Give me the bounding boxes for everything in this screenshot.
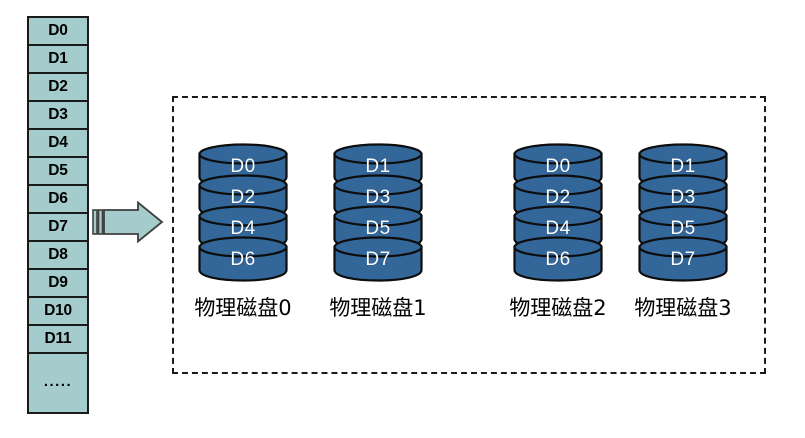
logical-data-stream: D0D1D2D3D4D5D6D7D8D9D10D11..... [27,16,89,414]
disk-block-segment: D7 [637,237,729,277]
distribution-arrow [92,201,164,243]
disk-cylinder-stack: D0D2D4D6 [197,144,289,276]
physical-disk-0: D0D2D4D6物理磁盘0 [197,144,289,276]
physical-disk-caption-2: 物理磁盘2 [490,292,626,322]
disk-block-label: D6 [512,237,604,277]
stream-cell-d9: D9 [29,270,87,298]
physical-disk-caption-3: 物理磁盘3 [615,292,751,322]
disk-block-segment: D6 [197,237,289,277]
stream-cell-d11: D11 [29,326,87,354]
stream-cell-d2: D2 [29,74,87,102]
disk-cylinder-stack: D1D3D5D7 [637,144,729,276]
arrow-body [104,203,162,242]
stream-cell-d6: D6 [29,186,87,214]
disk-block-label: D7 [332,237,424,277]
diagram-canvas: D0D1D2D3D4D5D6D7D8D9D10D11..... D0D2D4D6… [0,0,805,438]
physical-disk-caption-0: 物理磁盘0 [175,292,311,322]
disk-block-segment: D6 [512,237,604,277]
stream-cell-ellipsis: ..... [29,354,87,412]
stream-cell-d10: D10 [29,298,87,326]
stream-cell-d5: D5 [29,158,87,186]
stream-cell-d0: D0 [29,18,87,46]
stream-cell-d4: D4 [29,130,87,158]
stream-cell-d8: D8 [29,242,87,270]
physical-disk-2: D0D2D4D6物理磁盘2 [512,144,604,276]
disk-cylinder-stack: D1D3D5D7 [332,144,424,276]
stream-cell-d1: D1 [29,46,87,74]
physical-disk-3: D1D3D5D7物理磁盘3 [637,144,729,276]
stream-cell-d3: D3 [29,102,87,130]
disk-block-label: D6 [197,237,289,277]
disk-block-label: D7 [637,237,729,277]
physical-disk-caption-1: 物理磁盘1 [310,292,446,322]
stream-cell-d7: D7 [29,214,87,242]
disk-area: D0D2D4D6物理磁盘0D1D3D5D7物理磁盘1D0D2D4D6物理磁盘2D… [174,98,768,376]
disk-block-segment: D7 [332,237,424,277]
physical-disk-group: D0D2D4D6物理磁盘0D1D3D5D7物理磁盘1D0D2D4D6物理磁盘2D… [172,96,766,374]
arrow-tail-stripes [93,210,103,234]
physical-disk-1: D1D3D5D7物理磁盘1 [332,144,424,276]
disk-cylinder-stack: D0D2D4D6 [512,144,604,276]
